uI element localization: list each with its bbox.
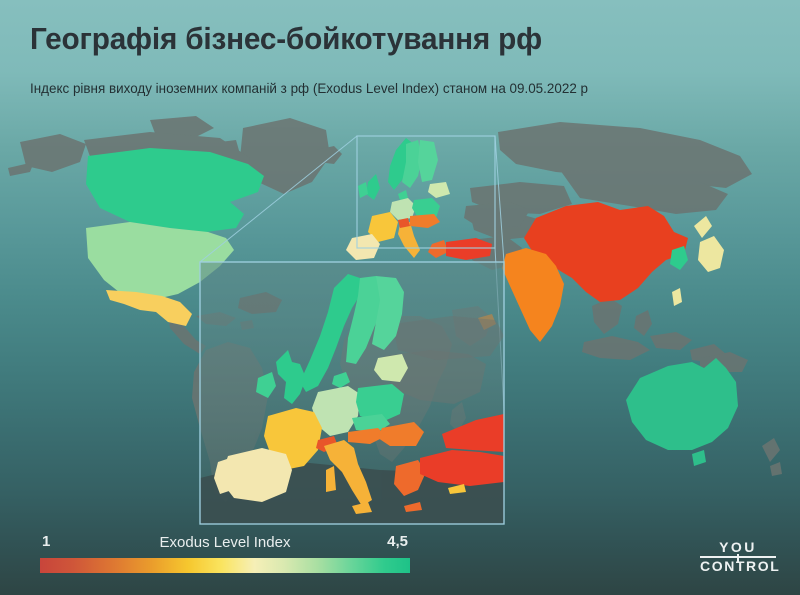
country-ireland-sm: [358, 182, 368, 198]
country-tasmania: [692, 450, 706, 466]
infographic-canvas: Географія бізнес-бойкотування рф Індекс …: [0, 0, 800, 595]
country-taiwan: [672, 288, 682, 306]
country-japan: [694, 216, 724, 272]
legend-labels: 1 Exodus Level Index 4,5: [40, 533, 410, 555]
logo-line-control: CONTROL: [700, 559, 776, 574]
country-spain-sm: [346, 234, 380, 260]
country-australia: [626, 358, 738, 450]
legend: 1 Exodus Level Index 4,5: [40, 533, 410, 555]
country-uk-sm: [366, 174, 380, 200]
country-baltics-sm: [428, 182, 450, 198]
country-finland-sm: [418, 140, 438, 182]
world-map-svg: [0, 110, 800, 530]
legend-title: Exodus Level Index: [40, 534, 410, 551]
country-greece-sm: [428, 240, 448, 258]
legend-gradient-bar: [40, 558, 410, 573]
europe-inset: [200, 262, 504, 524]
country-austria-hungary-sm: [410, 214, 440, 228]
youcontrol-logo[interactable]: YOU CONTROL: [700, 540, 776, 574]
page-subtitle: Індекс рівня виходу іноземних компаній з…: [30, 80, 588, 96]
country-mexico: [106, 290, 192, 326]
page-title: Географія бізнес-бойкотування рф: [30, 21, 542, 57]
logo-control-text: CONTROL: [700, 558, 780, 574]
logo-t-stroke: [737, 554, 739, 563]
world-map: [0, 110, 800, 530]
legend-max-value: 4,5: [387, 533, 408, 550]
